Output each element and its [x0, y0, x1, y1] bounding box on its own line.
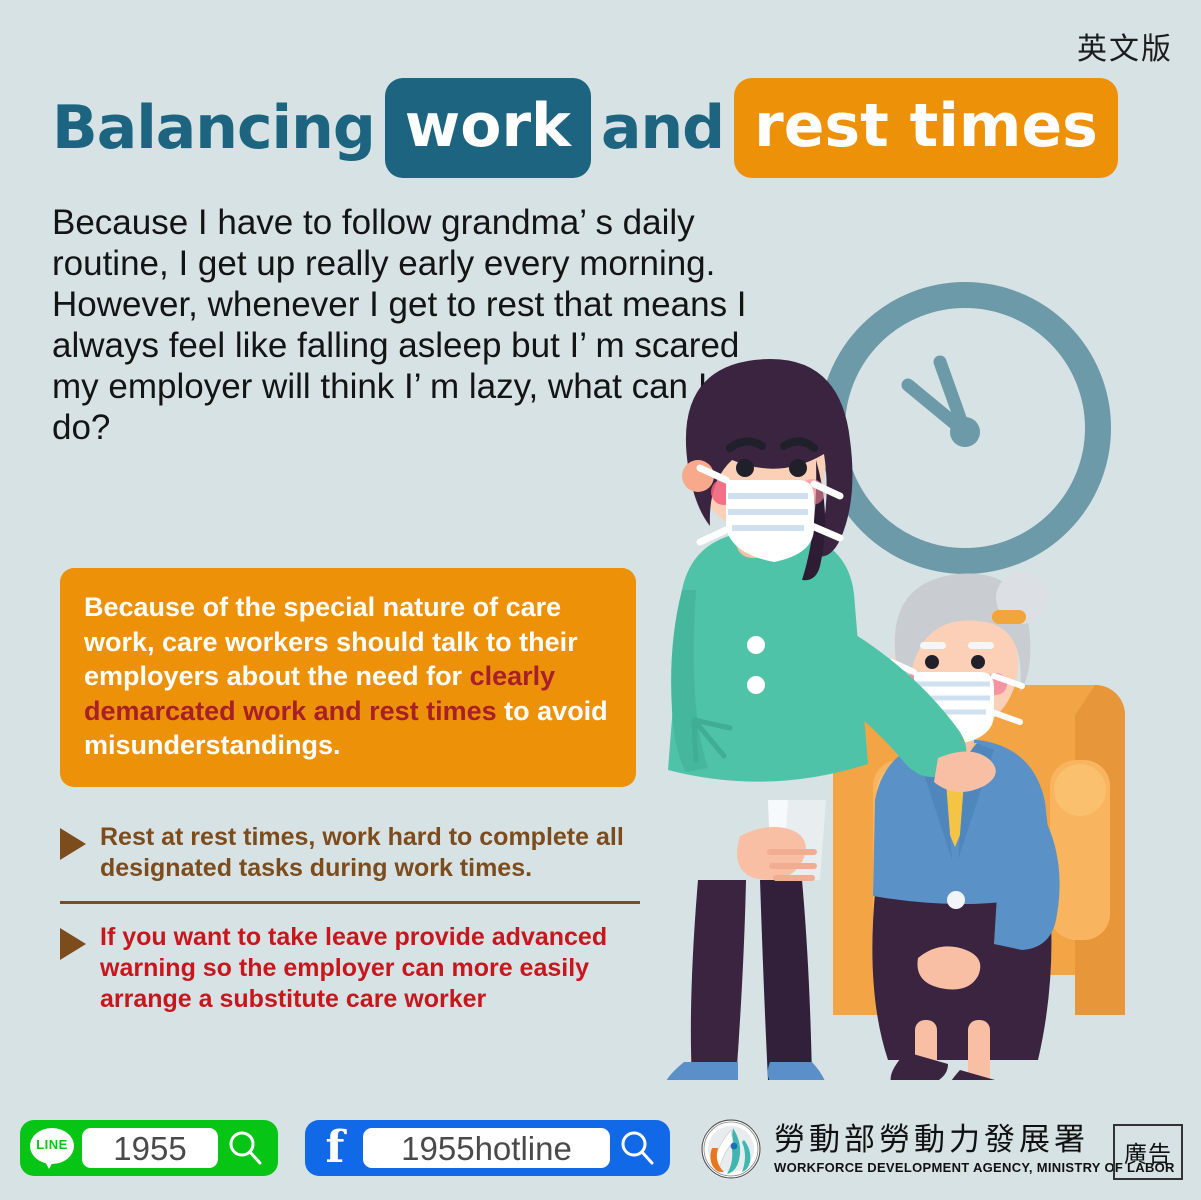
agency-identity: 勞動部勞動力發展署 WORKFORCE DEVELOPMENT AGENCY, … [700, 1118, 1175, 1180]
illustration [620, 280, 1201, 1080]
poster-root: 英文版 Balancing work and rest times Becaus… [0, 0, 1201, 1200]
search-icon[interactable] [618, 1129, 656, 1167]
bullet-list: Rest at rest times, work hard to complet… [60, 822, 640, 1015]
clock-icon [832, 295, 1098, 561]
line-id-value: 1955 [113, 1132, 186, 1165]
title-chip-rest-times: rest times [734, 78, 1118, 178]
language-tag: 英文版 [1077, 24, 1173, 68]
facebook-page-value: 1955hotline [401, 1132, 572, 1165]
glass-of-water [737, 800, 826, 880]
bullet-text-2: If you want to take leave provide advanc… [100, 922, 640, 1016]
list-item: Rest at rest times, work hard to complet… [60, 822, 640, 885]
title-word-and: and [601, 98, 724, 158]
title-chip-work: work [385, 78, 591, 178]
grandma [872, 572, 1059, 1080]
triangle-bullet-icon [60, 928, 86, 960]
facebook-logo-icon: f [315, 1126, 355, 1170]
answer-text: Because of the special nature of care wo… [84, 590, 612, 763]
line-logo-icon: LINE [30, 1128, 74, 1168]
bullet-text-1: Rest at rest times, work hard to complet… [100, 822, 640, 885]
page-title: Balancing work and rest times [52, 78, 1128, 178]
facebook-contact-badge[interactable]: f 1955hotline [305, 1120, 670, 1176]
footer-bar: LINE 1955 f 1955hotline [0, 1104, 1201, 1200]
triangle-bullet-icon [60, 828, 86, 860]
title-word-balancing: Balancing [52, 98, 375, 158]
line-contact-badge[interactable]: LINE 1955 [20, 1120, 278, 1176]
bullet-divider [60, 901, 640, 904]
list-item: If you want to take leave provide advanc… [60, 922, 640, 1016]
answer-callout-box: Because of the special nature of care wo… [60, 568, 636, 787]
line-logo-label: LINE [30, 1137, 74, 1152]
ad-label-box: 廣告 [1113, 1124, 1183, 1180]
agency-emblem-icon [700, 1118, 762, 1180]
line-id-field[interactable]: 1955 [82, 1128, 218, 1168]
facebook-page-field[interactable]: 1955hotline [363, 1128, 610, 1168]
search-icon[interactable] [226, 1129, 264, 1167]
